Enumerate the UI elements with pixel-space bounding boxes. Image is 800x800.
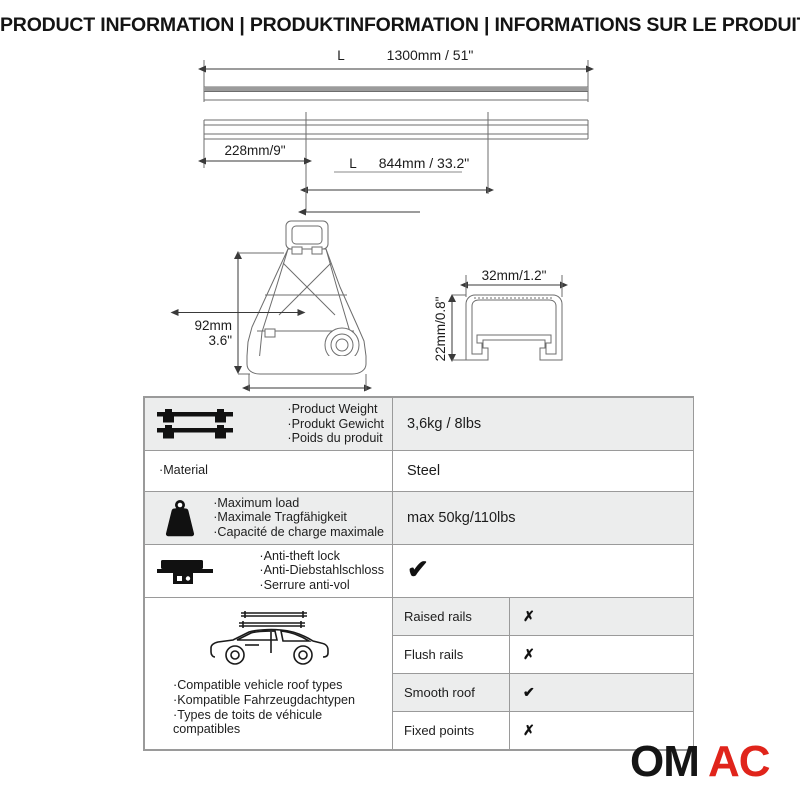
roof-type-row: Smooth roof ✔ xyxy=(393,673,693,711)
weight-icon xyxy=(153,496,207,540)
foot-height-in-label: 3.6" xyxy=(208,333,232,348)
profile-height-label: 22mm/0.8" xyxy=(433,296,448,361)
omac-logo: OM AC xyxy=(630,740,782,786)
length-symbol-overall: L xyxy=(337,48,345,63)
roof-type-mark: ✗ xyxy=(510,635,694,673)
anti-theft-lock-labels: ·Anti-theft lock ·Anti-Diebstahlschloss … xyxy=(259,549,386,593)
crossbars-icon xyxy=(153,404,237,444)
table-row: ·Maximum load ·Maximale Tragfähigkeit ·C… xyxy=(145,491,694,544)
roof-type-row: Flush rails ✗ xyxy=(393,635,693,673)
product-information-page: PRODUCT INFORMATION | PRODUKTINFORMATION… xyxy=(0,0,800,800)
compatibility-labels: ·Compatible vehicle roof types ·Kompatib… xyxy=(151,678,386,737)
span-symbol: L xyxy=(349,156,357,171)
material-labels: ·Material xyxy=(159,463,208,478)
roof-types-table: Raised rails ✗ Flush rails ✗ Smooth roof… xyxy=(393,598,693,749)
profile-width-label: 32mm/1.2" xyxy=(482,268,547,283)
maximum-load-labels: ·Maximum load ·Maximale Tragfähigkeit ·C… xyxy=(213,496,386,540)
technical-drawing: L 1300mm / 51" 228mm/9" L 844mm / 33.2" … xyxy=(0,42,800,392)
roof-type-name: Fixed points xyxy=(393,711,510,749)
roof-type-name: Raised rails xyxy=(393,598,510,636)
lock-icon xyxy=(153,550,223,592)
car-with-rack-icon xyxy=(199,607,339,669)
maximum-load-value: max 50kg/110lbs xyxy=(393,504,693,532)
roof-type-row: Raised rails ✗ xyxy=(393,598,693,636)
roof-type-mark: ✔ xyxy=(510,673,694,711)
table-row: ·Product Weight ·Produkt Gewicht ·Poids … xyxy=(145,398,694,451)
table-row-compatibility: ·Compatible vehicle roof types ·Kompatib… xyxy=(145,597,694,749)
roof-type-mark: ✗ xyxy=(510,598,694,636)
foot-height-mm-label: 92mm xyxy=(194,318,232,333)
product-weight-labels: ·Product Weight ·Produkt Gewicht ·Poids … xyxy=(287,402,386,446)
product-weight-value: 3,6kg / 8lbs xyxy=(393,410,693,438)
table-row: ·Material Steel xyxy=(145,450,694,491)
foot-offset-label: 228mm/9" xyxy=(224,143,285,158)
omac-logo-red: AC xyxy=(708,740,770,786)
specification-table: ·Product Weight ·Produkt Gewicht ·Poids … xyxy=(143,396,694,751)
material-value: Steel xyxy=(393,457,693,485)
table-row: ·Anti-theft lock ·Anti-Diebstahlschloss … xyxy=(145,544,694,597)
roof-type-name: Flush rails xyxy=(393,635,510,673)
anti-theft-lock-value: ✔ xyxy=(393,554,693,588)
page-title: PRODUCT INFORMATION | PRODUKTINFORMATION… xyxy=(0,14,800,37)
overall-length-label: 1300mm / 51" xyxy=(387,47,474,63)
span-length-label: 844mm / 33.2" xyxy=(379,155,470,171)
roof-type-name: Smooth roof xyxy=(393,673,510,711)
omac-logo-dark: OM xyxy=(630,740,699,786)
